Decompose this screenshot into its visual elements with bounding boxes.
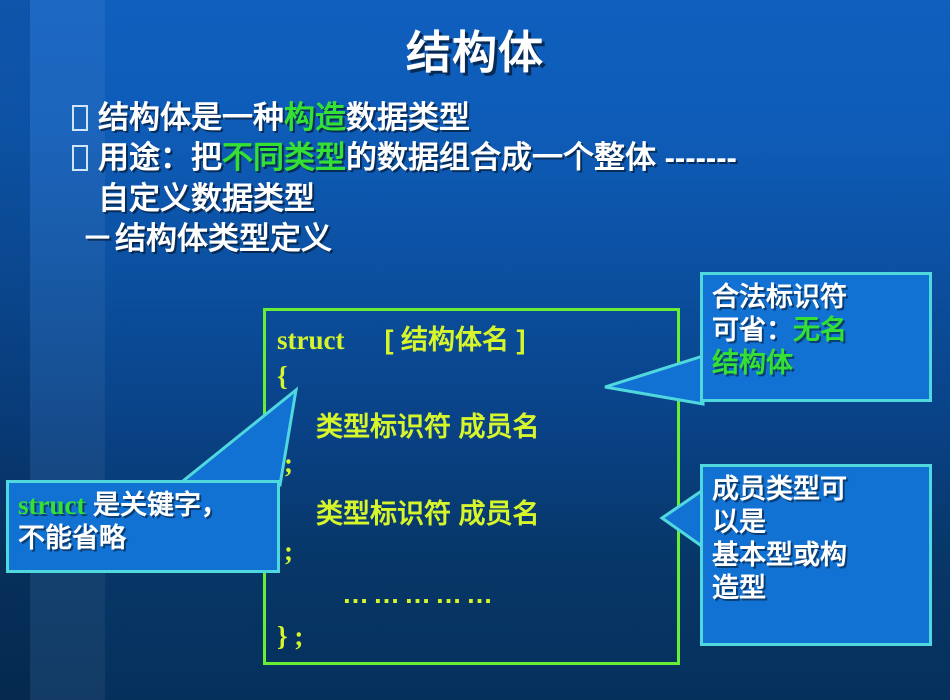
- callout-name-line-2-a: 可省：: [712, 315, 793, 345]
- bullet-1-seg-1: 结构体是一种: [98, 100, 284, 135]
- callout-struct-line-1-rest: 是关键字，: [85, 490, 228, 520]
- bullet-item-1: 结构体是一种构造数据类型: [72, 98, 942, 138]
- callout-member-line-1: 成员类型可: [712, 473, 920, 506]
- callout-name-line-2: 可省：无名: [712, 314, 920, 347]
- callout-member-line-3: 基本型或构: [712, 539, 920, 572]
- code-line-5: 类型标识符 成员名: [316, 492, 540, 531]
- bullet-item-2: 用途：把不同类型的数据组合成一个整体 ------- 自定义数据类型: [72, 138, 942, 219]
- callout-member-type: 成员类型可 以是 基本型或构 造型: [700, 464, 932, 646]
- code-line-7: ……………: [342, 579, 497, 610]
- bullet-box-icon: [72, 105, 88, 131]
- callout-name-line-2-b: 无名: [793, 315, 847, 345]
- callout-legal-identifier: 合法标识符 可省：无名 结构体: [700, 272, 932, 402]
- bullet-2-seg-3: 的数据组合成一个整体 -------: [346, 140, 737, 175]
- callout-member-line-2: 以是: [712, 506, 920, 539]
- callout-struct-keyword: struct 是关键字， 不能省略: [6, 480, 280, 573]
- callout-member-line-4: 造型: [712, 572, 920, 605]
- bullet-2-seg-2: 不同类型: [222, 140, 346, 175]
- code-line-4: ;: [284, 448, 293, 479]
- bullet-3-seg-1: 结构体类型定义: [115, 221, 332, 256]
- bullet-box-icon: [72, 145, 88, 171]
- slide-canvas: 结构体 结构体是一种构造数据类型 用途：把不同类型的数据组合成一个整体 ----…: [0, 0, 950, 700]
- bullet-1-seg-3: 数据类型: [346, 100, 470, 135]
- code-definition-box: struct[ 结构体名 ] { 类型标识符 成员名 ; 类型标识符 成员名 ;…: [263, 308, 680, 665]
- code-line-6: ;: [284, 536, 293, 567]
- code-line-1-rest: [ 结构体名 ]: [384, 325, 525, 355]
- bullet-2-seg-1: 用途：把: [98, 140, 222, 175]
- callout-name-line-3: 结构体: [712, 347, 920, 380]
- bullet-2-continuation: 自定义数据类型: [72, 179, 942, 219]
- slide-title: 结构体: [0, 29, 950, 76]
- bullet-item-3: －结构体类型定义: [72, 219, 942, 259]
- code-line-1: struct[ 结构体名 ]: [277, 318, 525, 357]
- dash-marker-icon: －: [82, 219, 113, 259]
- callout-name-line-1: 合法标识符: [712, 281, 920, 314]
- code-lines: struct[ 结构体名 ] { 类型标识符 成员名 ; 类型标识符 成员名 ;…: [266, 311, 677, 662]
- code-keyword-struct: struct: [277, 325, 344, 355]
- bullet-list: 结构体是一种构造数据类型 用途：把不同类型的数据组合成一个整体 ------- …: [72, 98, 942, 259]
- callout-struct-keyword-text: struct: [18, 490, 85, 520]
- code-line-2: {: [277, 361, 288, 392]
- bullet-1-seg-2: 构造: [284, 100, 346, 135]
- callout-struct-line-1: struct 是关键字，: [18, 489, 268, 522]
- code-line-8: } ;: [277, 621, 303, 652]
- callout-struct-line-2: 不能省略: [18, 522, 268, 555]
- code-line-3: 类型标识符 成员名: [316, 405, 540, 444]
- background-left-edge: [0, 0, 30, 700]
